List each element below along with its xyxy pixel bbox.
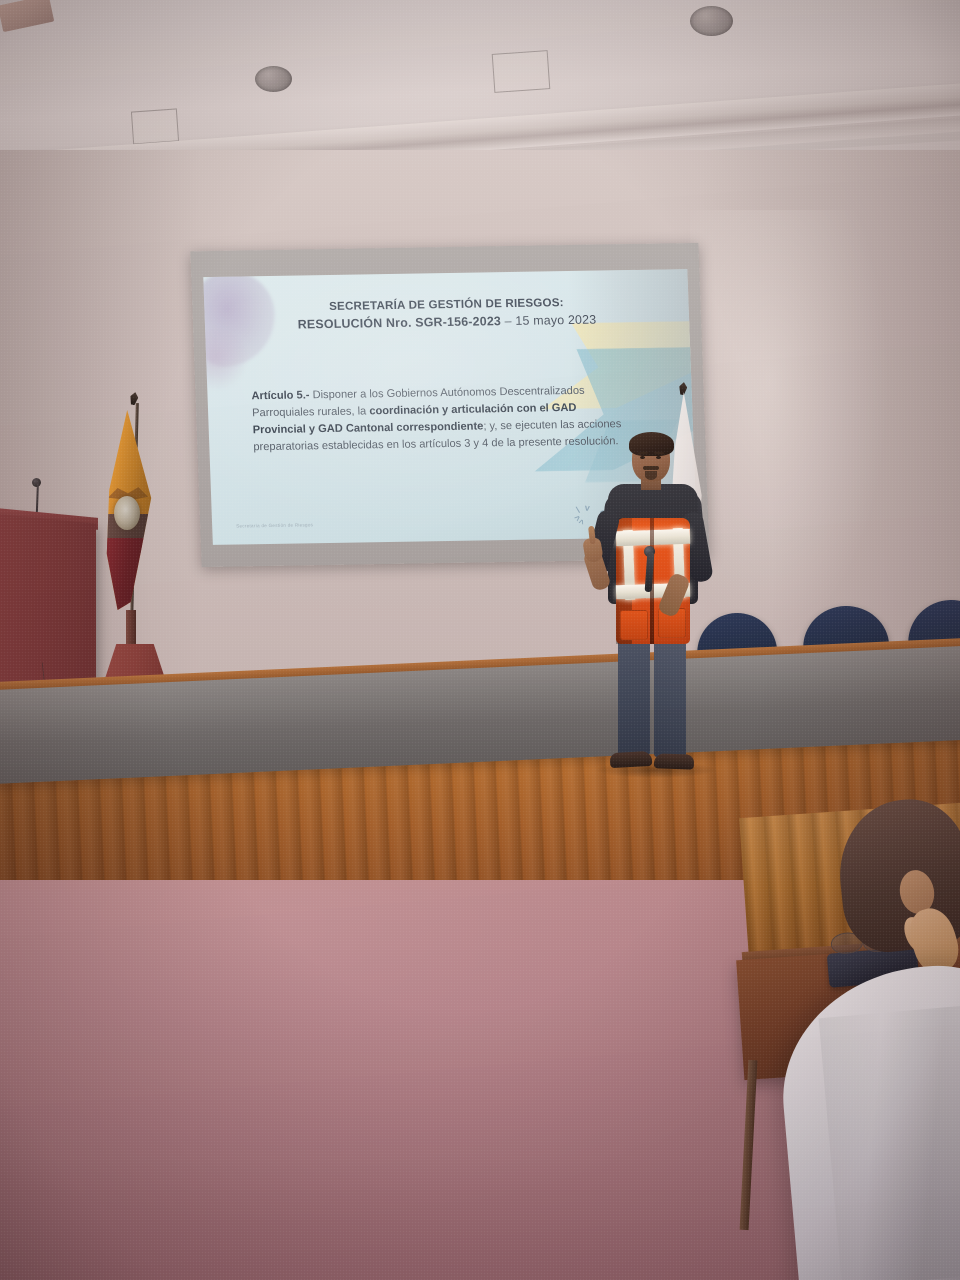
- presenter-leg-left: [618, 637, 650, 755]
- presenter: [586, 432, 718, 782]
- ceiling-speaker-icon: [255, 66, 292, 92]
- conference-hall-photo: SECRETARÍA DE GESTIÓN DE RIESGOS: RESOLU…: [0, 0, 960, 1280]
- slide-title: SECRETARÍA DE GESTIÓN DE RIESGOS: RESOLU…: [232, 294, 661, 336]
- ecuador-flag: [88, 392, 198, 712]
- flag-cloth: [96, 410, 156, 610]
- slide-footer-text: Secretaría de Gestión de Riesgos: [236, 522, 313, 528]
- ceiling-access-panel: [492, 50, 551, 93]
- presenter-eye: [656, 456, 661, 459]
- slide-body-text: Artículo 5.- Disponer a los Gobiernos Au…: [251, 382, 625, 456]
- presenter-eye: [640, 456, 645, 459]
- slide-body-lead: Artículo 5.-: [251, 389, 309, 402]
- presenter-goatee: [645, 471, 657, 480]
- wall-highlight: [690, 210, 890, 640]
- slide-title-resolution: RESOLUCIÓN Nro. SGR-156-2023: [298, 314, 502, 331]
- presenter-hair: [629, 432, 674, 456]
- ceiling-access-panel: [131, 108, 179, 144]
- ceiling-speaker-icon: [690, 6, 733, 36]
- presenter-vest-pocket: [620, 610, 648, 640]
- presenter-leg-right: [654, 637, 686, 757]
- slide-title-date: – 15 mayo 2023: [501, 312, 597, 328]
- presenter-shoe-right: [654, 753, 694, 769]
- flag-fold-shading: [96, 410, 156, 610]
- presenter-shoe-left: [610, 751, 653, 768]
- presenter-moustache: [643, 466, 659, 470]
